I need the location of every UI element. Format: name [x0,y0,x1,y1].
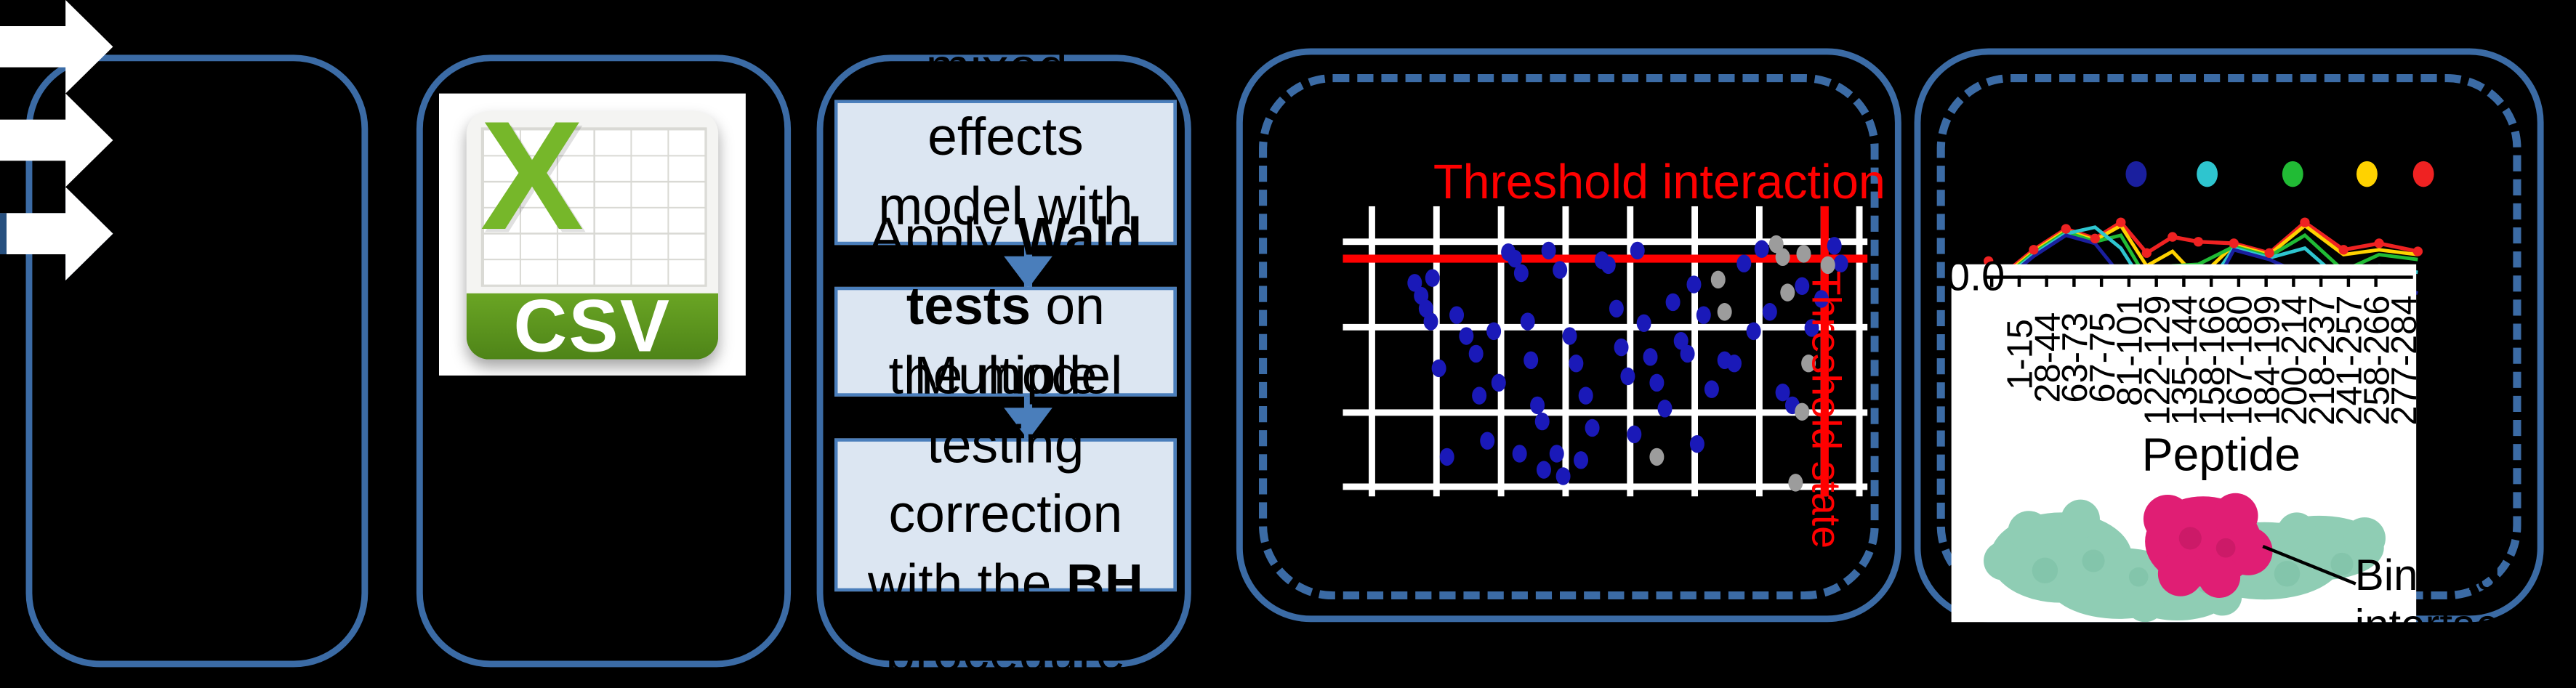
binding-interface-label: Binding interface [2355,551,2522,652]
binding-interface-line1: Binding [2355,551,2522,602]
threshold-state-label: Threshold state [1801,271,1848,549]
csv-icon-body: X CSV [467,110,718,359]
step-bh-post: procedure [885,622,1125,681]
protein-structure-image [1964,483,2403,622]
x-axis-title: Peptide [2142,430,2301,483]
step-wald-post: on [1031,276,1105,336]
scatter-plot-figure: Threshold interaction [1275,97,1869,580]
diagram-stage: X CSV Fit a linear mixed- effects model … [0,0,2576,687]
csv-file-icon: X CSV [439,94,746,376]
excel-x-glyph: X [482,121,582,235]
legend-dot-series-2 [2197,161,2218,187]
csv-format-band: CSV [467,294,718,359]
step-box-bh[interactable]: Multiple testing correction with the BH … [834,438,1177,591]
scatter-plot-axes [1343,206,1867,496]
step-bh-line1: Multiple testing [914,345,1098,474]
protein-surface-svg [1964,483,2403,622]
step-model-line1: Fit a linear mixed- [881,0,1130,97]
csv-format-label: CSV [514,283,672,358]
peptide-axis-and-structure-card: 0.0 1-15 28-44 63-73 67-75 81-101 122-12… [1952,264,2417,622]
legend-dot-series-5 [2413,161,2434,187]
step-bh-bold: BH [1066,553,1143,612]
scatter-plot-title: Threshold interaction [1433,156,1885,211]
step-bh-line2: correction [889,484,1123,543]
step-wald-pre: Apply [869,206,1017,266]
legend-dot-series-3 [2282,161,2303,187]
legend-dot-series-4 [2356,161,2378,187]
step-bh-pre: with the [868,553,1066,612]
legend-dot-series-1 [2125,161,2146,187]
peptide-tick-14: 277-284 [2384,296,2426,426]
binding-interface-line2: interface [2355,602,2522,652]
